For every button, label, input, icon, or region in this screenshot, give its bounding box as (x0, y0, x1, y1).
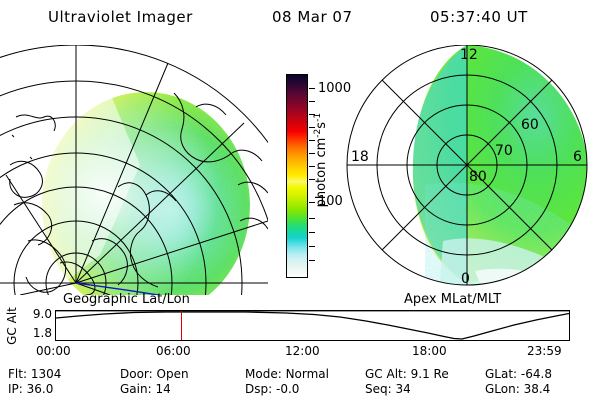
mlt-label-0: 0 (461, 271, 470, 287)
status-seq-value: 34 (396, 382, 411, 396)
colorbar-tick (309, 127, 315, 128)
page-title: Ultraviolet Imager (48, 8, 193, 26)
observation-time: 05:37:40 UT (430, 8, 528, 26)
status-glat-value: -64.8 (521, 367, 552, 381)
status-glon-value: 38.4 (524, 382, 551, 396)
current-time-marker (181, 311, 182, 340)
status-gcalt-label: GC Alt: (365, 367, 407, 381)
status-gain: Gain: 14 (120, 382, 171, 396)
status-door: Door: Open (120, 367, 189, 381)
altitude-trace-svg (56, 311, 569, 340)
colorbar-tick (309, 166, 315, 167)
status-dsp: Dsp: -0.0 (245, 382, 299, 396)
status-gain-value: 14 (155, 382, 170, 396)
apex-polar-grid (347, 45, 587, 285)
status-ip: IP: 36.0 (8, 382, 53, 396)
status-seq-label: Seq: (365, 382, 392, 396)
mlt-label-18: 18 (351, 149, 369, 165)
colorbar-tick (309, 179, 315, 180)
mlt-label-12: 12 (460, 47, 478, 63)
geographic-panel-caption: Geographic Lat/Lon (63, 292, 190, 307)
colorbar-tick (309, 260, 315, 261)
status-flt-label: Flt: (8, 367, 27, 381)
status-glon: GLon: 38.4 (485, 382, 550, 396)
colorbar-tick (309, 101, 315, 102)
altitude-xtick-1800: 18:00 (412, 344, 447, 358)
status-ip-value: 36.0 (27, 382, 54, 396)
colorbar-tick (309, 88, 315, 89)
mlat-label-80: 80 (469, 169, 487, 185)
status-dsp-value: -0.0 (276, 382, 299, 396)
colorbar-tick (309, 246, 315, 247)
apex-panel-caption: Apex MLat/MLT (404, 292, 501, 307)
status-mode-value: Normal (286, 367, 329, 381)
mlt-label-6: 6 (573, 149, 582, 165)
geographic-projection-svg (0, 45, 268, 295)
status-door-value: Open (157, 367, 189, 381)
status-dsp-label: Dsp: (245, 382, 272, 396)
altitude-plot[interactable] (55, 310, 570, 341)
apex-mlt-panel[interactable]: 12 18 6 0 60 70 80 (335, 45, 600, 295)
aurora-emission-apex (413, 45, 588, 295)
status-gcalt: GC Alt: 9.1 Re (365, 367, 449, 381)
colorbar-tick (309, 202, 315, 203)
status-seq: Seq: 34 (365, 382, 411, 396)
status-mode-label: Mode: (245, 367, 282, 381)
aurora-emission-geographic (30, 92, 250, 295)
altitude-y-max: 9.0 (20, 307, 52, 321)
altitude-xtick-0000: 00:00 (36, 344, 71, 358)
geographic-image-panel[interactable] (0, 45, 268, 295)
status-flt-value: 1304 (31, 367, 62, 381)
mlat-label-60: 60 (521, 117, 539, 133)
altitude-y-min: 1.8 (20, 326, 52, 340)
apex-polar-dial-svg: 12 18 6 0 60 70 80 (335, 45, 600, 295)
status-mode: Mode: Normal (245, 367, 329, 381)
colorbar-tick (309, 218, 315, 219)
colorbar-tick (309, 114, 315, 115)
status-flt: Flt: 1304 (8, 367, 61, 381)
altitude-xtick-0600: 06:00 (156, 344, 191, 358)
observation-date: 08 Mar 07 (272, 8, 353, 26)
status-gcalt-value: 9.1 Re (411, 367, 449, 381)
colorbar-tick (309, 153, 315, 154)
altitude-xtick-1200: 12:00 (285, 344, 320, 358)
status-gain-label: Gain: (120, 382, 152, 396)
colorbar-tick (309, 232, 315, 233)
status-door-label: Door: (120, 367, 153, 381)
ultraviolet-imager-display: Ultraviolet Imager 08 Mar 07 05:37:40 UT (0, 0, 600, 400)
status-ip-label: IP: (8, 382, 23, 396)
colorbar-tick (309, 140, 315, 141)
status-glon-label: GLon: (485, 382, 520, 396)
colorbar-gradient (287, 75, 307, 277)
colorbar-axis-title: photon cm-2s-1 (313, 70, 329, 250)
altitude-xtick-2359: 23:59 (527, 344, 562, 358)
status-glat: GLat: -64.8 (485, 367, 552, 381)
status-glat-label: GLat: (485, 367, 517, 381)
colorbar-scale[interactable] (286, 74, 308, 278)
mlat-label-70: 70 (495, 143, 513, 159)
altitude-axis-title: GC Alt (4, 305, 20, 347)
